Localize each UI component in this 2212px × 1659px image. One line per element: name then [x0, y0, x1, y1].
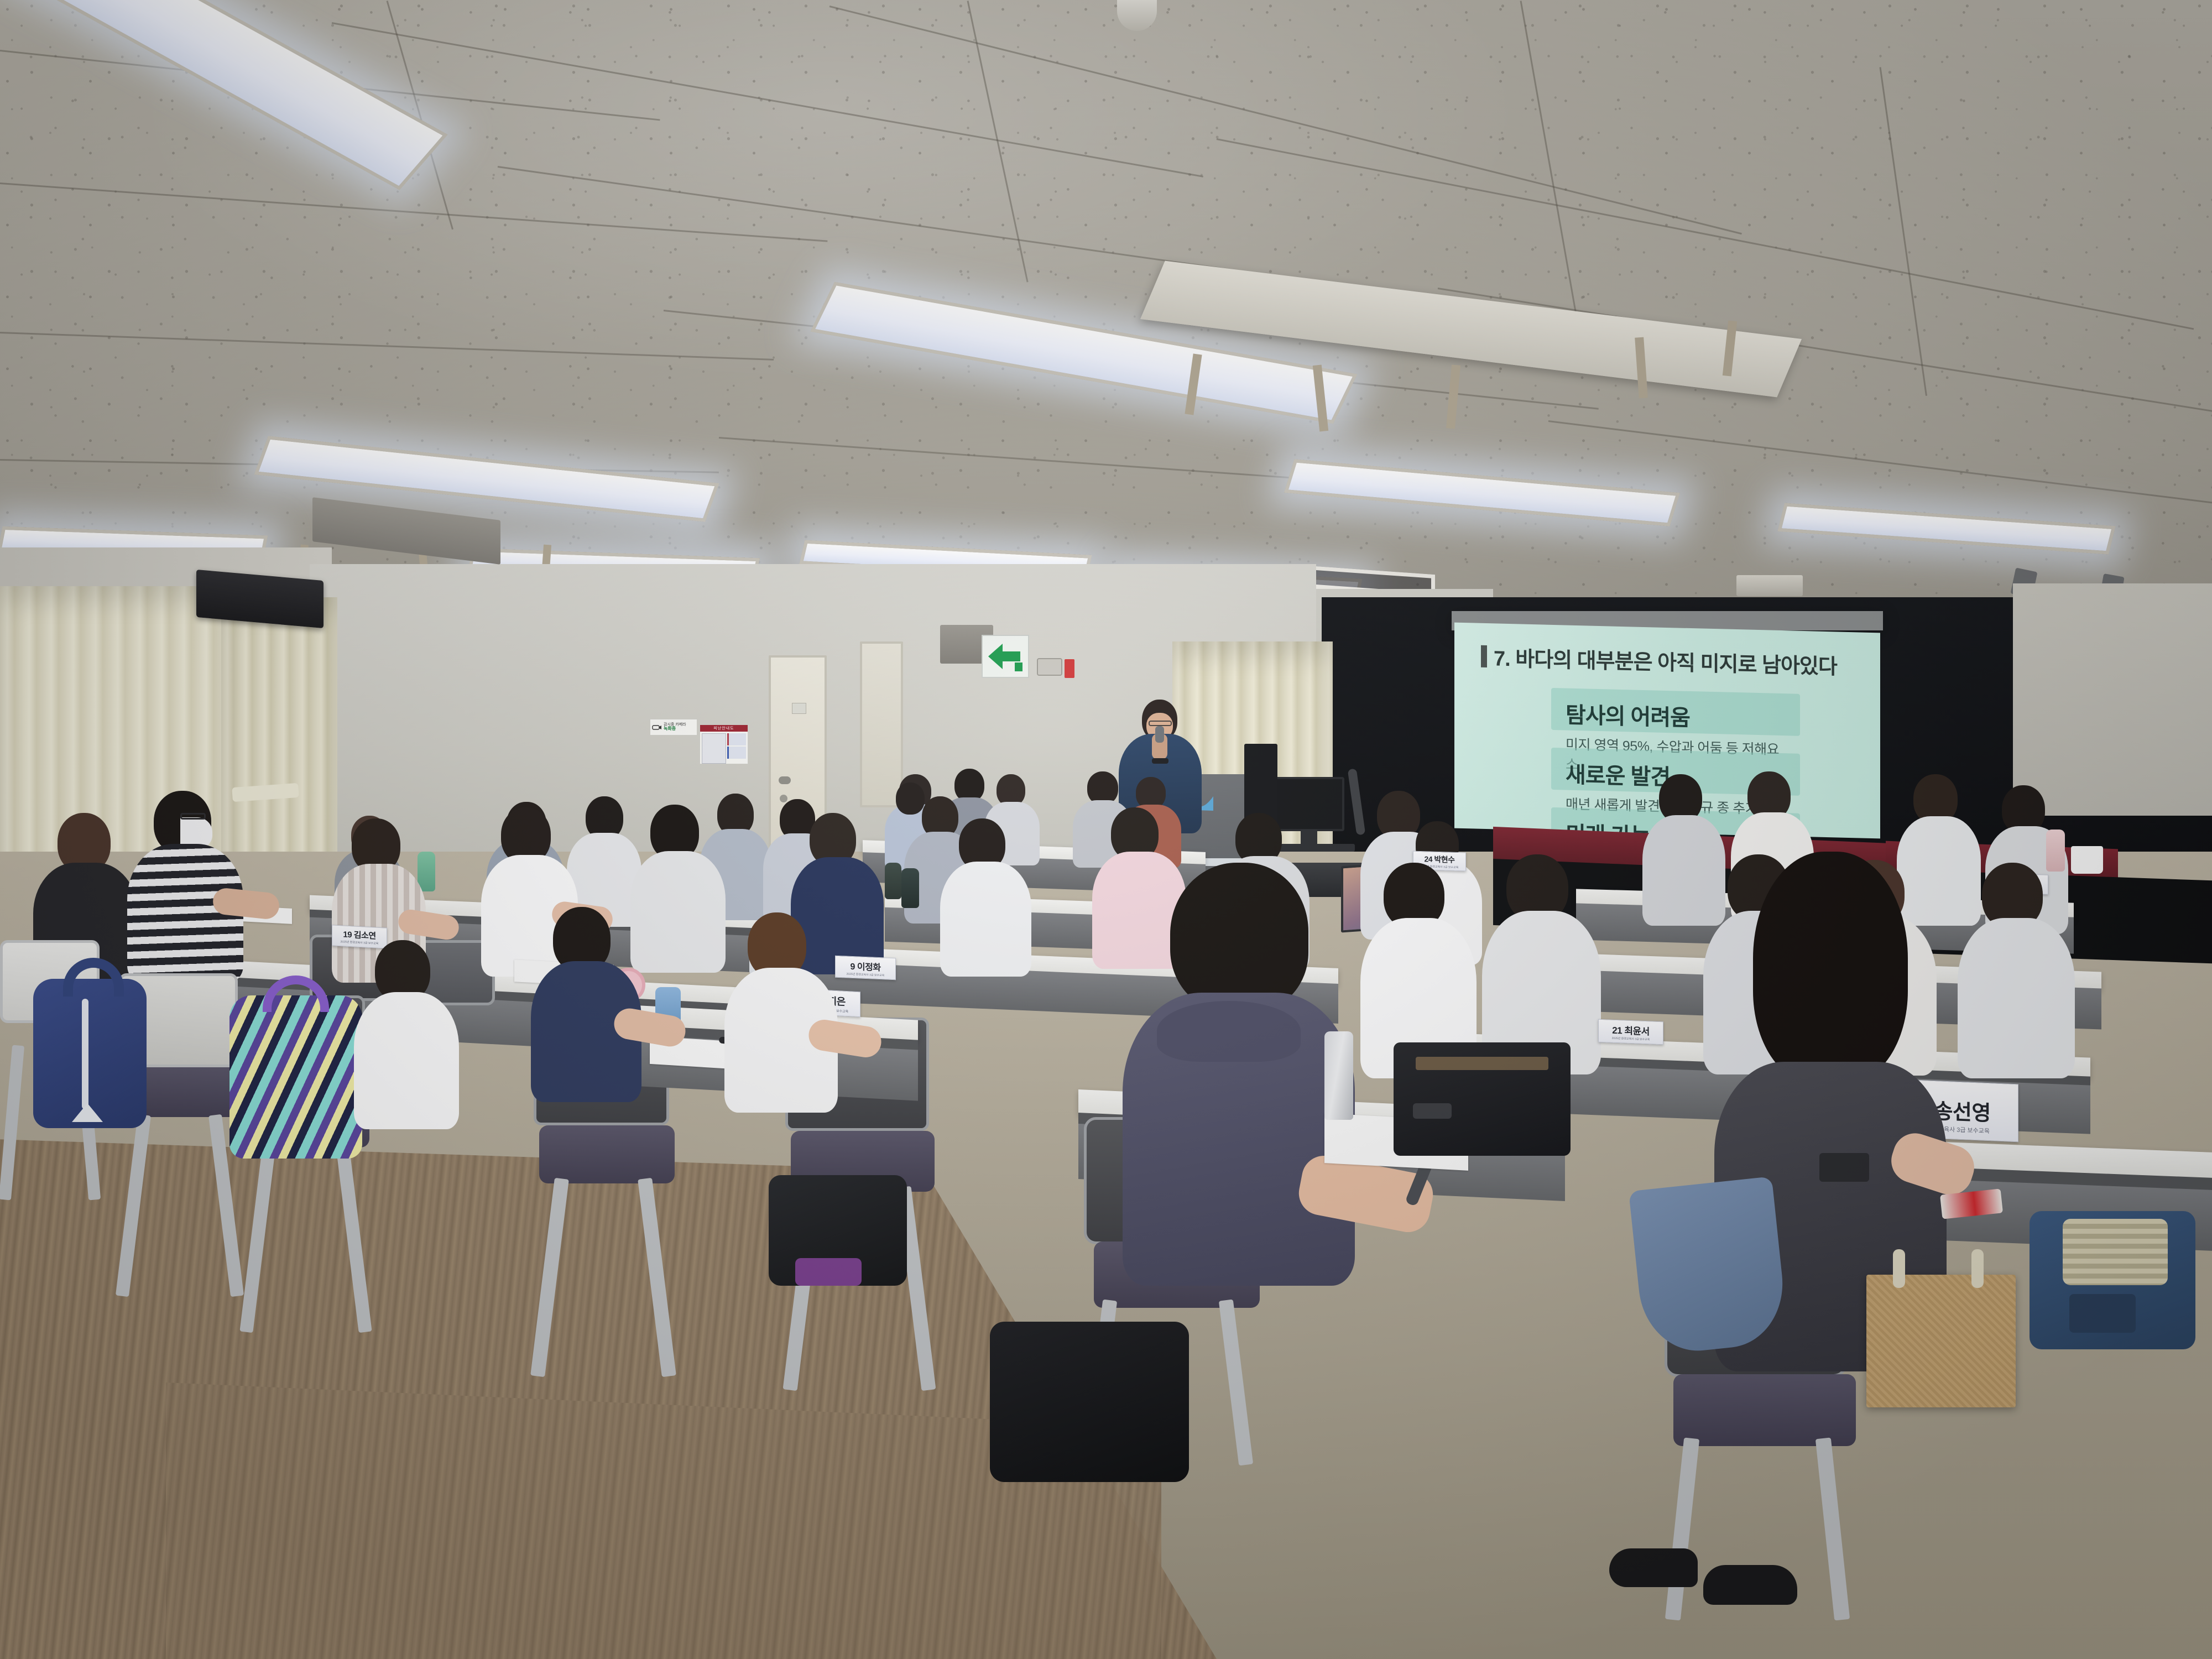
cctv-sign-line2: 녹화중: [664, 727, 686, 731]
legend-block: [727, 747, 746, 759]
brand-logo-icon: [72, 1103, 103, 1122]
bag-handle: [1893, 1249, 1905, 1288]
microphone-icon: [1155, 726, 1164, 743]
attendee-torso: [1958, 918, 2075, 1078]
attendee: [724, 912, 838, 1106]
backpack-pattern: [2063, 1219, 2168, 1285]
attendee: [1360, 863, 1477, 1073]
door-plate: [792, 703, 806, 714]
slide-card-heading: 탐사의 어려움: [1566, 697, 1786, 735]
wall-sensor-icon: [1037, 658, 1062, 676]
glasses-icon: [180, 813, 206, 820]
exit-arrow-icon: [986, 639, 1025, 674]
floorplan-graphic: [702, 733, 726, 764]
namecard-name: 21 최윤서: [1612, 1022, 1650, 1038]
attendee: [940, 818, 1031, 976]
backpack: [2030, 1211, 2195, 1349]
legend-block: [727, 733, 746, 745]
attendee-foreground: [1123, 863, 1355, 1283]
wristwatch-icon: [1152, 758, 1168, 764]
attendee-torso: [354, 992, 459, 1129]
shoe: [1703, 1565, 1797, 1605]
attendee: [531, 907, 641, 1095]
attendee: [1482, 854, 1601, 1070]
smartphone[interactable]: [1819, 1153, 1869, 1182]
thermos: [1324, 1031, 1353, 1120]
backpack-zipper: [82, 999, 88, 1109]
glasses-icon: [1149, 721, 1172, 726]
emergency-light-icon: [1065, 659, 1074, 678]
attendee: [354, 940, 459, 1123]
attendee-torso: [940, 862, 1031, 977]
attendee-head: [1170, 863, 1308, 1012]
exit-sign: [982, 635, 1029, 678]
bag-strap: [1416, 1057, 1548, 1070]
slide-card: 탐사의 어려움 미지 영역 95%, 수압과 어둠 등 저해요소: [1551, 688, 1800, 736]
namecard-name: 9 이정화: [850, 958, 880, 973]
backpack-patterned: [229, 995, 362, 1159]
attendee-head: [1087, 771, 1118, 805]
bag-handle: [1971, 1249, 1984, 1288]
backpack-blue: [33, 979, 147, 1128]
namecard: 9 이정화 2025년 환경교육사 3급 보수교육: [835, 956, 896, 980]
backpack-large: [990, 1322, 1189, 1482]
attendee: [1958, 863, 2075, 1076]
attendee-long-hair: [1753, 852, 1908, 1084]
camera-icon: [652, 724, 662, 731]
classroom-scene: EPSON 감시중 카메라 녹화중 피난안내도: [0, 0, 2212, 1659]
slide-title: 7. 바다의 대부분은 아직 미지로 남아있다: [1494, 641, 1837, 680]
bag-accent: [795, 1258, 862, 1286]
evacuation-map-title: 피난안내도: [700, 725, 748, 732]
cctv-sign: 감시중 카메라 녹화중: [650, 719, 697, 735]
door-handle[interactable]: [779, 776, 791, 784]
attendee-torso: [630, 851, 726, 973]
chair-seat: [539, 1125, 675, 1183]
back-wall-far-right: [2013, 583, 2212, 816]
namecard-subtitle: 2025년 환경교육사 3급 보수교육: [847, 972, 885, 977]
backpack-pocket: [2069, 1294, 2136, 1333]
namecard-subtitle: 2025년 환경교육사 3급 보수교육: [1612, 1036, 1650, 1042]
tumbler: [901, 868, 919, 908]
bag-zipper: [1413, 1103, 1452, 1119]
backpack: [1394, 1042, 1571, 1156]
hood: [1157, 1001, 1301, 1062]
attendee: [127, 791, 243, 979]
mug: [2071, 846, 2103, 874]
namecard: 21 최윤서 2025년 환경교육사 3급 보수교육: [1598, 1019, 1663, 1045]
tumbler: [885, 863, 901, 899]
tote-bag: [1866, 1275, 2016, 1407]
shoe: [1609, 1548, 1698, 1587]
evacuation-map-sign: 피난안내도: [700, 724, 748, 764]
slide-title-accent-bar: [1481, 645, 1487, 667]
backpack: [769, 1175, 907, 1286]
ceiling-vent: [1736, 575, 1803, 596]
attendee: [630, 805, 726, 971]
